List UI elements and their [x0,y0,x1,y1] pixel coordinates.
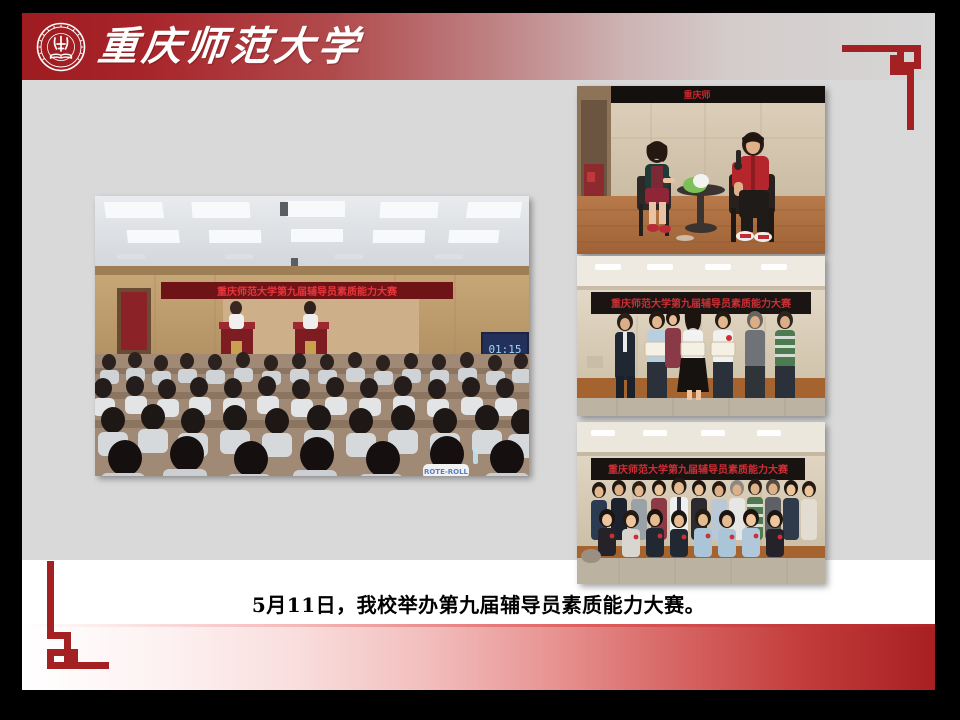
slide-frame: 重庆师范大学 [0,0,960,720]
photo-group-photo: 重庆师范大学第九届辅导员素质能力大赛 [577,422,825,584]
photo-lecture-hall-competition: 重庆师范大学第九届辅导员素质能力大赛 [95,196,529,476]
university-name: 重庆师范大学 [95,21,364,73]
footer-gradient-band [22,624,935,690]
corner-ornament-top-right-icon [834,35,926,136]
svg-text:重庆师范大学第九届辅导员素质能力大赛: 重庆师范大学第九届辅导员素质能力大赛 [611,297,792,310]
svg-text:ROTE-ROLL: ROTE-ROLL [424,468,469,476]
photo-award-ceremony: 重庆师范大学第九届辅导员素质能力大赛 [577,256,825,416]
presentation-slide: 重庆师范大学 [22,13,935,690]
header-banner: 重庆师范大学 [22,13,935,80]
svg-text:重庆师: 重庆师 [683,89,710,101]
photo-stage-interview: 重庆师 [577,86,825,254]
corner-ornament-bottom-left-icon [37,561,133,678]
svg-text:重庆师范大学第九届辅导员素质能力大赛: 重庆师范大学第九届辅导员素质能力大赛 [217,285,398,298]
slide-caption: 5月11日，我校举办第九届辅导员素质能力大赛。 [22,589,935,618]
university-seal-icon [36,22,86,72]
svg-text:重庆师范大学第九届辅导员素质能力大赛: 重庆师范大学第九届辅导员素质能力大赛 [608,463,789,476]
